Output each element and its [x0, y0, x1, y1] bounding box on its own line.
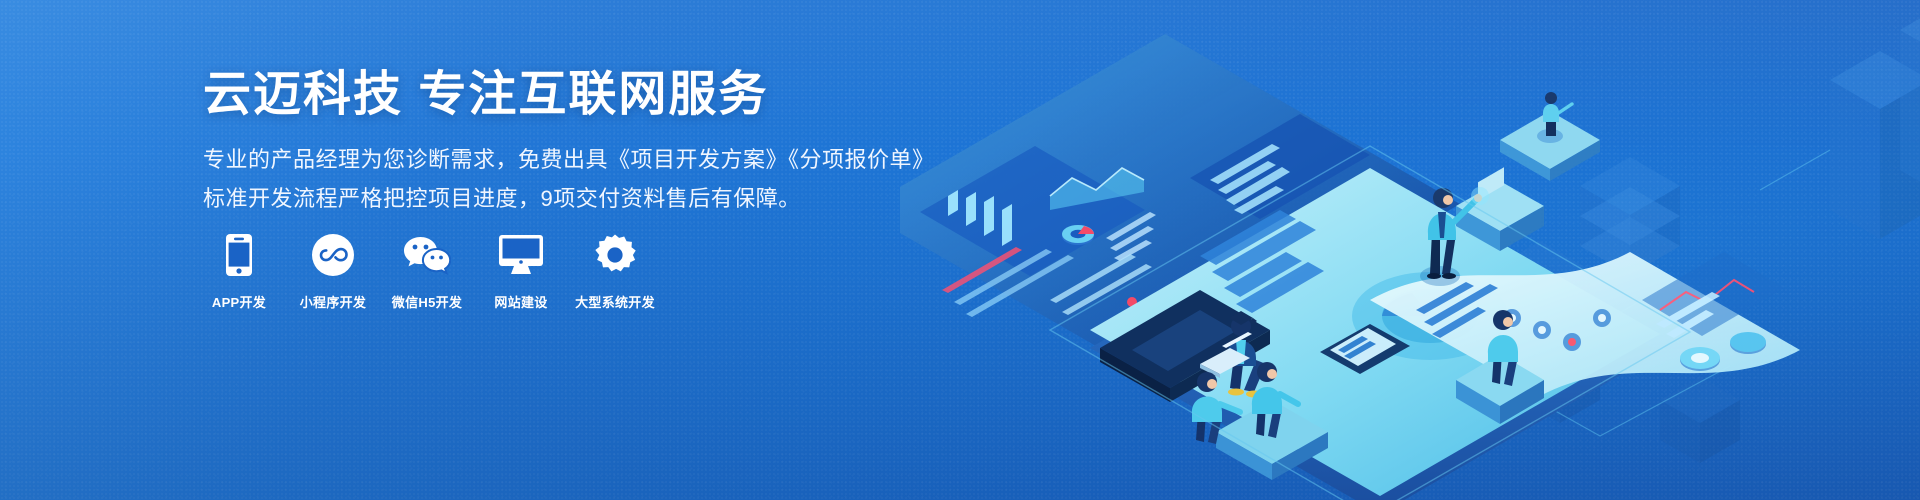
- mobile-phone-icon: [226, 232, 252, 278]
- isometric-data-dashboard-illustration: [900, 0, 1920, 500]
- monitor-icon: [499, 232, 543, 278]
- service-label: 大型系统开发: [575, 292, 655, 311]
- service-item-wechat-h5[interactable]: 微信H5开发: [391, 232, 463, 311]
- service-label: 小程序开发: [300, 292, 367, 311]
- banner-copy: 云迈科技 专注互联网服务 专业的产品经理为您诊断需求，免费出具《项目开发方案》《…: [203, 68, 935, 217]
- service-label: 微信H5开发: [392, 292, 462, 311]
- banner-subtitle: 专业的产品经理为您诊断需求，免费出具《项目开发方案》《分项报价单》 标准开发流程…: [203, 142, 935, 217]
- service-label: APP开发: [212, 292, 266, 311]
- subtitle-line-1: 专业的产品经理为您诊断需求，免费出具《项目开发方案》《分项报价单》: [203, 142, 935, 178]
- service-list: APP开发 小程序开发 微信: [203, 232, 651, 311]
- subtitle-line-2: 标准开发流程严格把控项目进度，9项交付资料售后有保障。: [203, 181, 935, 217]
- service-label: 网站建设: [494, 292, 547, 311]
- service-item-large-system[interactable]: 大型系统开发: [579, 232, 651, 311]
- page-title: 云迈科技 专注互联网服务: [203, 68, 935, 122]
- wechat-icon: [403, 232, 451, 278]
- service-item-mini-program[interactable]: 小程序开发: [297, 232, 369, 311]
- mini-program-icon: [312, 232, 354, 278]
- gear-icon: [594, 232, 636, 278]
- service-item-app[interactable]: APP开发: [203, 232, 275, 311]
- service-item-website[interactable]: 网站建设: [485, 232, 557, 311]
- hero-banner: 云迈科技 专注互联网服务 专业的产品经理为您诊断需求，免费出具《项目开发方案》《…: [0, 0, 1920, 500]
